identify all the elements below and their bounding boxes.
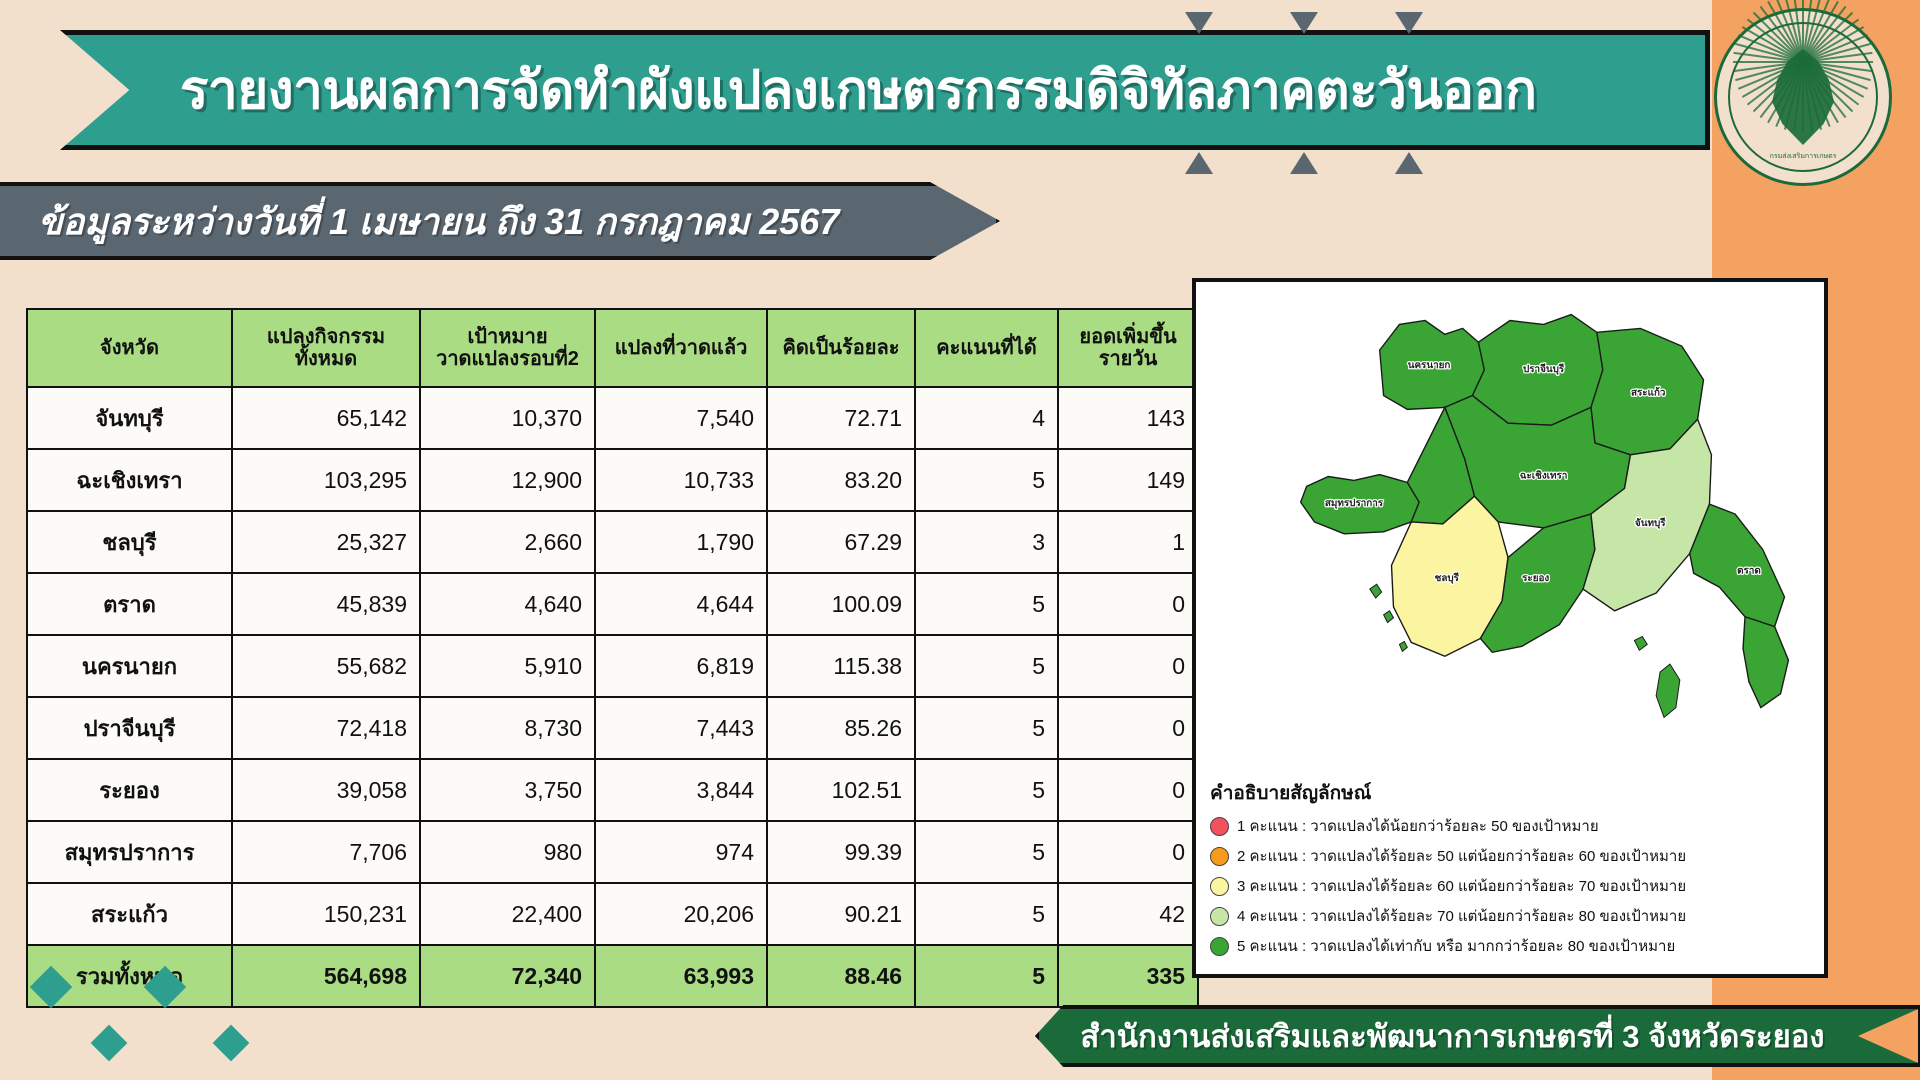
date-range-banner: ข้อมูลระหว่างวันที่ 1 เมษายน ถึง 31 กรกฎ… bbox=[0, 182, 1000, 260]
header-line: คะแนนที่ได้ bbox=[936, 337, 1037, 359]
header-line: จังหวัด bbox=[100, 337, 159, 359]
cell-total-plots: 7,706 bbox=[232, 821, 420, 883]
tick-arrow-bottom-2 bbox=[1290, 152, 1318, 174]
map-label-ตราด: ตราด bbox=[1737, 565, 1761, 576]
cell-score: 5 bbox=[915, 635, 1058, 697]
cell-percent: 100.09 bbox=[767, 573, 915, 635]
cell-drawn: 1,790 bbox=[595, 511, 767, 573]
table-column-header-1: จังหวัด bbox=[27, 309, 232, 387]
legend-item-1: 1 คะแนน : วาดแปลงได้น้อยกว่าร้อยละ 50 ขอ… bbox=[1210, 814, 1822, 838]
cell-drawn: 6,819 bbox=[595, 635, 767, 697]
cell-percent: 85.26 bbox=[767, 697, 915, 759]
table-row: จันทบุรี65,14210,3707,54072.714143 bbox=[27, 387, 1198, 449]
cell-province: ปราจีนบุรี bbox=[27, 697, 232, 759]
cell-score: 3 bbox=[915, 511, 1058, 573]
cell-total-plots: 103,295 bbox=[232, 449, 420, 511]
cell-score: 4 bbox=[915, 387, 1058, 449]
header-line: วาดแปลงรอบที่2 bbox=[436, 348, 579, 370]
cell-drawn: 974 bbox=[595, 821, 767, 883]
table-row: ระยอง39,0583,7503,844102.5150 bbox=[27, 759, 1198, 821]
table-header-row: จังหวัดแปลงกิจกรรมทั้งหมดเป้าหมายวาดแปลง… bbox=[27, 309, 1198, 387]
department-emblem-logo: กรมส่งเสริมการเกษตร bbox=[1714, 8, 1892, 186]
cell-daily-increase: 0 bbox=[1058, 821, 1198, 883]
header-line: ทั้งหมด bbox=[295, 348, 357, 370]
map-island-3 bbox=[1399, 641, 1407, 651]
table-body: จันทบุรี65,14210,3707,54072.714143ฉะเชิง… bbox=[27, 387, 1198, 1007]
cell-drawn: 3,844 bbox=[595, 759, 767, 821]
cell-total-plots: 65,142 bbox=[232, 387, 420, 449]
legend-item-label: 3 คะแนน : วาดแปลงได้ร้อยละ 60 แต่น้อยกว่… bbox=[1237, 874, 1686, 898]
table-total-row: รวมทั้งหมด564,69872,34063,99388.465335 bbox=[27, 945, 1198, 1007]
table-row: ชลบุรี25,3272,6601,79067.2931 bbox=[27, 511, 1198, 573]
cell-score: 5 bbox=[915, 945, 1058, 1007]
emblem-inner-ring: กรมส่งเสริมการเกษตร bbox=[1728, 22, 1878, 172]
report-table: จังหวัดแปลงกิจกรรมทั้งหมดเป้าหมายวาดแปลง… bbox=[26, 308, 1199, 1008]
cell-percent: 83.20 bbox=[767, 449, 915, 511]
map-label-จันทบุรี: จันทบุรี bbox=[1635, 517, 1666, 529]
table-row: ปราจีนบุรี72,4188,7307,44385.2650 bbox=[27, 697, 1198, 759]
map-label-สระแก้ว: สระแก้ว bbox=[1631, 387, 1665, 399]
page-title: รายงานผลการจัดทำผังแปลงเกษตรกรรมดิจิทัลภ… bbox=[180, 48, 1536, 132]
cell-percent: 102.51 bbox=[767, 759, 915, 821]
table-column-header-7: ยอดเพิ่มขึ้นรายวัน bbox=[1058, 309, 1198, 387]
cell-target: 8,730 bbox=[420, 697, 595, 759]
table-row: สมุทรปราการ7,70698097499.3950 bbox=[27, 821, 1198, 883]
table-row: ฉะเชิงเทรา103,29512,90010,73383.205149 bbox=[27, 449, 1198, 511]
cell-province: ตราด bbox=[27, 573, 232, 635]
emblem-caption: กรมส่งเสริมการเกษตร bbox=[1770, 151, 1837, 162]
legend-item-5: 5 คะแนน : วาดแปลงได้เท่ากับ หรือ มากกว่า… bbox=[1210, 934, 1822, 958]
header-line: แปลงที่วาดแล้ว bbox=[615, 337, 748, 359]
table-column-header-6: คะแนนที่ได้ bbox=[915, 309, 1058, 387]
legend-item-label: 1 คะแนน : วาดแปลงได้น้อยกว่าร้อยละ 50 ขอ… bbox=[1237, 814, 1599, 838]
legend-color-swatch-icon bbox=[1210, 847, 1229, 866]
cell-percent: 115.38 bbox=[767, 635, 915, 697]
tick-arrow-top-1 bbox=[1185, 12, 1213, 34]
cell-drawn: 7,540 bbox=[595, 387, 767, 449]
cell-target: 5,910 bbox=[420, 635, 595, 697]
date-range-text: ข้อมูลระหว่างวันที่ 1 เมษายน ถึง 31 กรกฎ… bbox=[38, 193, 839, 250]
cell-total-plots: 72,418 bbox=[232, 697, 420, 759]
map-island-2 bbox=[1384, 611, 1394, 623]
cell-score: 5 bbox=[915, 449, 1058, 511]
title-ribbon: รายงานผลการจัดทำผังแปลงเกษตรกรรมดิจิทัลภ… bbox=[60, 30, 1710, 150]
cell-score: 5 bbox=[915, 883, 1058, 945]
cell-score: 5 bbox=[915, 821, 1058, 883]
legend-item-label: 5 คะแนน : วาดแปลงได้เท่ากับ หรือ มากกว่า… bbox=[1237, 934, 1675, 958]
header-line: คิดเป็นร้อยละ bbox=[782, 337, 899, 359]
cell-daily-increase: 335 bbox=[1058, 945, 1198, 1007]
map-island-1 bbox=[1370, 584, 1382, 598]
cell-percent: 90.21 bbox=[767, 883, 915, 945]
cell-percent: 99.39 bbox=[767, 821, 915, 883]
cell-percent: 88.46 bbox=[767, 945, 915, 1007]
tick-arrow-top-2 bbox=[1290, 12, 1318, 34]
cell-score: 5 bbox=[915, 697, 1058, 759]
map-label-สมุทรปราการ: สมุทรปราการ bbox=[1325, 497, 1384, 509]
table-header: จังหวัดแปลงกิจกรรมทั้งหมดเป้าหมายวาดแปลง… bbox=[27, 309, 1198, 387]
cell-total-plots: 45,839 bbox=[232, 573, 420, 635]
cell-score: 5 bbox=[915, 759, 1058, 821]
cell-daily-increase: 0 bbox=[1058, 573, 1198, 635]
cell-daily-increase: 143 bbox=[1058, 387, 1198, 449]
header-line: รายวัน bbox=[1099, 348, 1158, 370]
report-table-container: จังหวัดแปลงกิจกรรมทั้งหมดเป้าหมายวาดแปลง… bbox=[26, 308, 1181, 1008]
table-column-header-2: แปลงกิจกรรมทั้งหมด bbox=[232, 309, 420, 387]
cell-total-plots: 150,231 bbox=[232, 883, 420, 945]
cell-target: 12,900 bbox=[420, 449, 595, 511]
legend-color-swatch-icon bbox=[1210, 937, 1229, 956]
cell-province: ระยอง bbox=[27, 759, 232, 821]
cell-daily-increase: 0 bbox=[1058, 635, 1198, 697]
cell-province: สมุทรปราการ bbox=[27, 821, 232, 883]
cell-daily-increase: 0 bbox=[1058, 759, 1198, 821]
cell-total-plots: 564,698 bbox=[232, 945, 420, 1007]
table-row: ตราด45,8394,6404,644100.0950 bbox=[27, 573, 1198, 635]
cell-drawn: 4,644 bbox=[595, 573, 767, 635]
footer-organization: สำนักงานส่งเสริมและพัฒนาการเกษตรที่ 3 จั… bbox=[1080, 1011, 1874, 1061]
cell-total-plots: 25,327 bbox=[232, 511, 420, 573]
table-column-header-5: คิดเป็นร้อยละ bbox=[767, 309, 915, 387]
cell-drawn: 63,993 bbox=[595, 945, 767, 1007]
legend-title: คำอธิบายสัญลักษณ์ bbox=[1210, 778, 1822, 808]
footer-ribbon: สำนักงานส่งเสริมและพัฒนาการเกษตรที่ 3 จั… bbox=[1035, 1005, 1920, 1067]
cell-drawn: 10,733 bbox=[595, 449, 767, 511]
legend-item-4: 4 คะแนน : วาดแปลงได้ร้อยละ 70 แต่น้อยกว่… bbox=[1210, 904, 1822, 928]
map-label-ปราจีนบุรี: ปราจีนบุรี bbox=[1523, 363, 1565, 375]
cell-total-plots: 55,682 bbox=[232, 635, 420, 697]
map-label-ชลบุรี: ชลบุรี bbox=[1435, 572, 1460, 584]
cell-drawn: 7,443 bbox=[595, 697, 767, 759]
table-row: สระแก้ว150,23122,40020,20690.21542 bbox=[27, 883, 1198, 945]
tick-arrow-top-3 bbox=[1395, 12, 1423, 34]
legend-color-swatch-icon bbox=[1210, 877, 1229, 896]
cell-target: 72,340 bbox=[420, 945, 595, 1007]
cell-daily-increase: 1 bbox=[1058, 511, 1198, 573]
map-island-4 bbox=[1656, 664, 1680, 717]
cell-drawn: 20,206 bbox=[595, 883, 767, 945]
legend-item-3: 3 คะแนน : วาดแปลงได้ร้อยละ 60 แต่น้อยกว่… bbox=[1210, 874, 1822, 898]
map-card: นครนายกปราจีนบุรีสระแก้วฉะเชิงเทราสมุทรป… bbox=[1192, 278, 1828, 978]
tick-arrow-bottom-3 bbox=[1395, 152, 1423, 174]
cell-province: ชลบุรี bbox=[27, 511, 232, 573]
cell-percent: 72.71 bbox=[767, 387, 915, 449]
cell-target: 980 bbox=[420, 821, 595, 883]
tick-arrow-bottom-1 bbox=[1185, 152, 1213, 174]
table-column-header-3: เป้าหมายวาดแปลงรอบที่2 bbox=[420, 309, 595, 387]
cell-province: จันทบุรี bbox=[27, 387, 232, 449]
cell-province: นครนายก bbox=[27, 635, 232, 697]
table-column-header-4: แปลงที่วาดแล้ว bbox=[595, 309, 767, 387]
cell-target: 10,370 bbox=[420, 387, 595, 449]
cell-total-plots: 39,058 bbox=[232, 759, 420, 821]
legend-item-2: 2 คะแนน : วาดแปลงได้ร้อยละ 50 แต่น้อยกว่… bbox=[1210, 844, 1822, 868]
cell-province: สระแก้ว bbox=[27, 883, 232, 945]
header-line: แปลงกิจกรรม bbox=[267, 326, 385, 348]
cell-target: 2,660 bbox=[420, 511, 595, 573]
legend-item-label: 2 คะแนน : วาดแปลงได้ร้อยละ 50 แต่น้อยกว่… bbox=[1237, 844, 1686, 868]
legend-color-swatch-icon bbox=[1210, 907, 1229, 926]
cell-score: 5 bbox=[915, 573, 1058, 635]
map-legend: คำอธิบายสัญลักษณ์ 1 คะแนน : วาดแปลงได้น้… bbox=[1210, 778, 1822, 964]
cell-daily-increase: 0 bbox=[1058, 697, 1198, 759]
cell-target: 4,640 bbox=[420, 573, 595, 635]
cell-daily-increase: 149 bbox=[1058, 449, 1198, 511]
cell-target: 22,400 bbox=[420, 883, 595, 945]
cell-target: 3,750 bbox=[420, 759, 595, 821]
legend-item-label: 4 คะแนน : วาดแปลงได้ร้อยละ 70 แต่น้อยกว่… bbox=[1237, 904, 1686, 928]
cell-daily-increase: 42 bbox=[1058, 883, 1198, 945]
table-row: นครนายก55,6825,9106,819115.3850 bbox=[27, 635, 1198, 697]
map-label-ระยอง: ระยอง bbox=[1522, 573, 1549, 584]
cell-province: ฉะเชิงเทรา bbox=[27, 449, 232, 511]
header-line: เป้าหมาย bbox=[467, 326, 547, 348]
map-label-ฉะเชิงเทรา: ฉะเชิงเทรา bbox=[1520, 469, 1568, 481]
cell-percent: 67.29 bbox=[767, 511, 915, 573]
legend-color-swatch-icon bbox=[1210, 817, 1229, 836]
map-label-นครนายก: นครนายก bbox=[1408, 360, 1451, 371]
map-island-5 bbox=[1634, 636, 1647, 650]
eastern-region-map: นครนายกปราจีนบุรีสระแก้วฉะเชิงเทราสมุทรป… bbox=[1196, 282, 1824, 752]
map-region-trat-peninsula bbox=[1743, 617, 1788, 708]
header-line: ยอดเพิ่มขึ้น bbox=[1079, 326, 1176, 348]
